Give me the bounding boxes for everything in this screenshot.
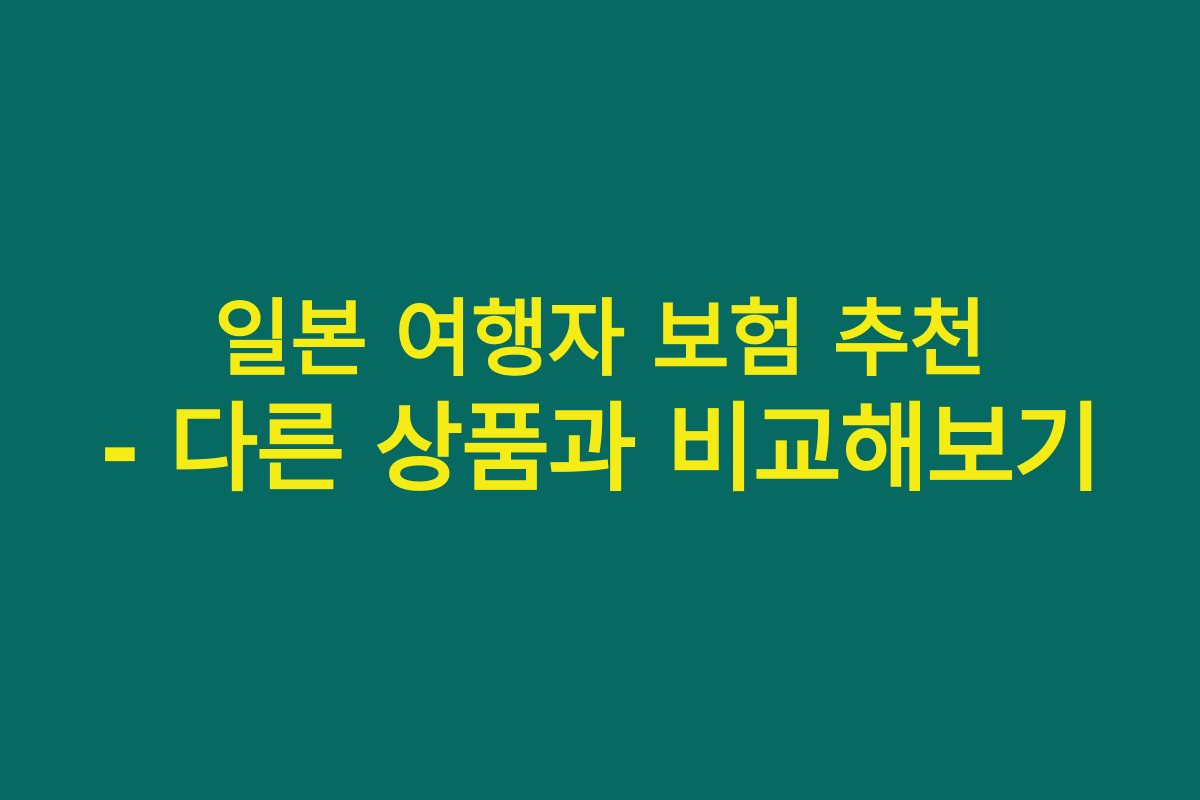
banner-canvas: 일본 여행자 보험 추천 - 다른 상품과 비교해보기 [0, 0, 1200, 800]
title-line-2: - 다른 상품과 비교해보기 [0, 390, 1200, 508]
title-line-1: 일본 여행자 보험 추천 [0, 288, 1200, 391]
title-block: 일본 여행자 보험 추천 - 다른 상품과 비교해보기 [0, 288, 1200, 508]
